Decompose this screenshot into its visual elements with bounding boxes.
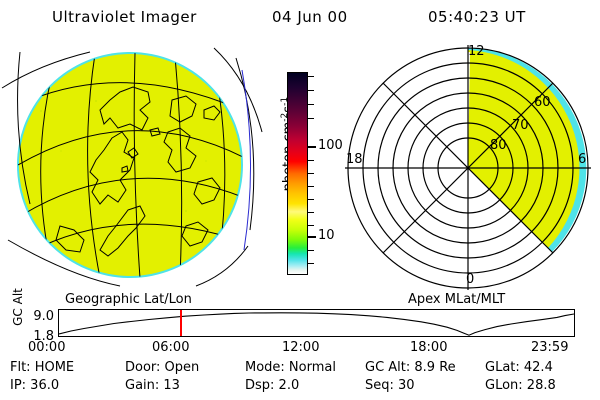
- orbit-plot-box[interactable]: [58, 309, 575, 337]
- status-gc-alt: GC Alt: 8.9 Re: [365, 360, 456, 375]
- colorbar-tick: [308, 199, 314, 200]
- colorbar-tick: [308, 263, 314, 264]
- colorbar-tick-major-10: [308, 236, 316, 238]
- polar-label-mlt-18: 18: [346, 152, 363, 167]
- status-mode: Mode: Normal: [245, 360, 336, 375]
- polar-label-lat-60: 60: [534, 95, 551, 110]
- instrument-title: Ultraviolet Imager: [52, 8, 197, 26]
- apex-polar-panel[interactable]: 12 18 6 0 60 70 80: [340, 40, 600, 290]
- orbit-altitude-panel[interactable]: Geographic Lat/Lon Apex MLat/MLT GC Alt …: [0, 292, 600, 354]
- polar-label-mlt-12: 12: [468, 44, 485, 59]
- observation-date: 04 Jun 00: [272, 8, 348, 26]
- colorbar-tick: [308, 76, 314, 77]
- geographic-globe-panel[interactable]: [0, 40, 268, 290]
- colorbar-label-10: 10: [318, 229, 335, 242]
- status-glat: GLat: 42.4: [485, 360, 553, 375]
- orbit-altitude-trace: [59, 310, 574, 336]
- orbit-time-label-4: 23:59: [531, 340, 568, 355]
- colorbar-gradient: [288, 73, 307, 274]
- globe-disk-fill: [19, 54, 241, 276]
- geographic-globe-image[interactable]: [0, 40, 268, 290]
- status-gain: Gain: 13: [125, 378, 180, 393]
- colorbar-tick-major-100: [308, 146, 316, 148]
- panel-title-apex: Apex MLat/MLT: [408, 292, 505, 307]
- status-flt: Flt: HOME: [10, 360, 74, 375]
- colorbar-tick: [308, 90, 314, 91]
- colorbar-tick: [308, 186, 314, 187]
- polar-label-mlt-6: 6: [578, 152, 586, 167]
- apex-polar-image[interactable]: [340, 40, 600, 290]
- colorbar-tick: [308, 160, 314, 161]
- status-seq: Seq: 30: [365, 378, 415, 393]
- status-glon: GLon: 28.8: [485, 378, 556, 393]
- orbit-time-label-2: 12:00: [282, 340, 319, 355]
- orbit-time-marker[interactable]: [180, 310, 182, 336]
- header-bar: Ultraviolet Imager 04 Jun 00 05:40:23 UT: [0, 4, 600, 30]
- polar-mlt-spokes: [345, 45, 591, 290]
- polar-label-lat-70: 70: [512, 118, 529, 133]
- colorbar-tick: [308, 118, 314, 119]
- colorbar-gradient-box[interactable]: [287, 72, 308, 275]
- colorbar-tick: [308, 104, 314, 105]
- status-block: Flt: HOME IP: 36.0 Door: Open Gain: 13 M…: [0, 360, 600, 400]
- status-dsp: Dsp: 2.0: [245, 378, 299, 393]
- polar-label-lat-80: 80: [490, 138, 507, 153]
- colorbar-tick: [308, 225, 314, 226]
- orbit-time-label-0: 00:00: [28, 340, 65, 355]
- orbit-time-label-1: 06:00: [152, 340, 189, 355]
- observation-time: 05:40:23 UT: [428, 8, 526, 26]
- uvi-summary-window: Ultraviolet Imager 04 Jun 00 05:40:23 UT: [0, 0, 600, 400]
- colorbar-tick: [308, 250, 314, 251]
- status-ip: IP: 36.0: [10, 378, 59, 393]
- orbit-y-axis-label: GC Alt: [11, 277, 25, 337]
- colorbar-tick: [308, 173, 314, 174]
- status-door: Door: Open: [125, 360, 199, 375]
- orbit-y-max-label: 9.0: [18, 310, 54, 323]
- polar-label-mlt-0: 0: [466, 272, 474, 287]
- colorbar-tick: [308, 212, 314, 213]
- panel-title-geographic: Geographic Lat/Lon: [65, 292, 192, 307]
- orbit-time-label-3: 18:00: [410, 340, 447, 355]
